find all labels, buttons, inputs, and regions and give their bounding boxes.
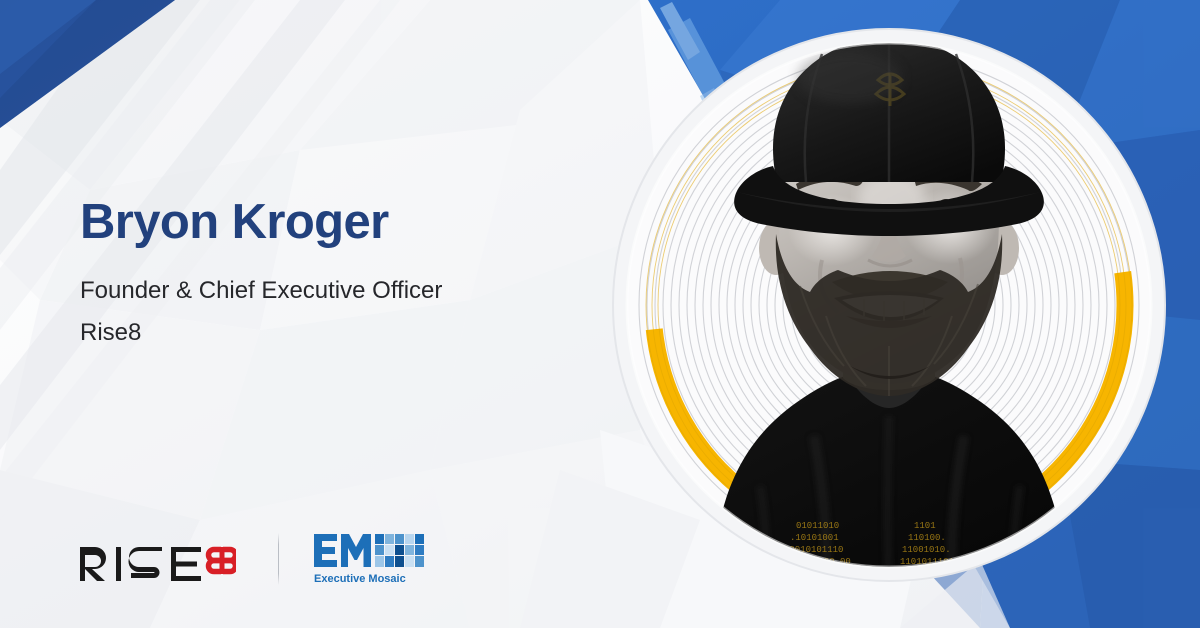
mosaic-grid <box>375 534 424 567</box>
executive-mosaic-logo[interactable]: Executive Mosaic <box>313 530 431 588</box>
bryon-kroger-portrait: 01011010 .10101001 10010101110 101010100… <box>600 16 1178 594</box>
svg-text:110100.: 110100. <box>908 533 946 543</box>
svg-text:.10101001: .10101001 <box>790 533 839 543</box>
executive-mosaic-wordmark: Executive Mosaic <box>314 573 406 585</box>
svg-text:11001010.: 11001010. <box>902 545 951 555</box>
logo-divider <box>278 533 279 585</box>
svg-text:01011010: 01011010 <box>796 521 839 531</box>
speaker-organization: Rise8 <box>80 321 620 345</box>
rise8-logo[interactable] <box>78 537 236 581</box>
speaker-name: Bryon Kroger <box>80 196 620 249</box>
portrait-container: 01011010 .10101001 10010101110 101010100… <box>600 16 1178 594</box>
speaker-title: Founder & Chief Executive Officer <box>80 279 620 303</box>
logo-row: Executive Mosaic <box>78 530 431 588</box>
speaker-announcement-banner: Bryon Kroger Founder & Chief Executive O… <box>0 0 1200 628</box>
svg-text:1101: 1101 <box>914 521 936 531</box>
speaker-text-block: Bryon Kroger Founder & Chief Executive O… <box>80 196 620 345</box>
